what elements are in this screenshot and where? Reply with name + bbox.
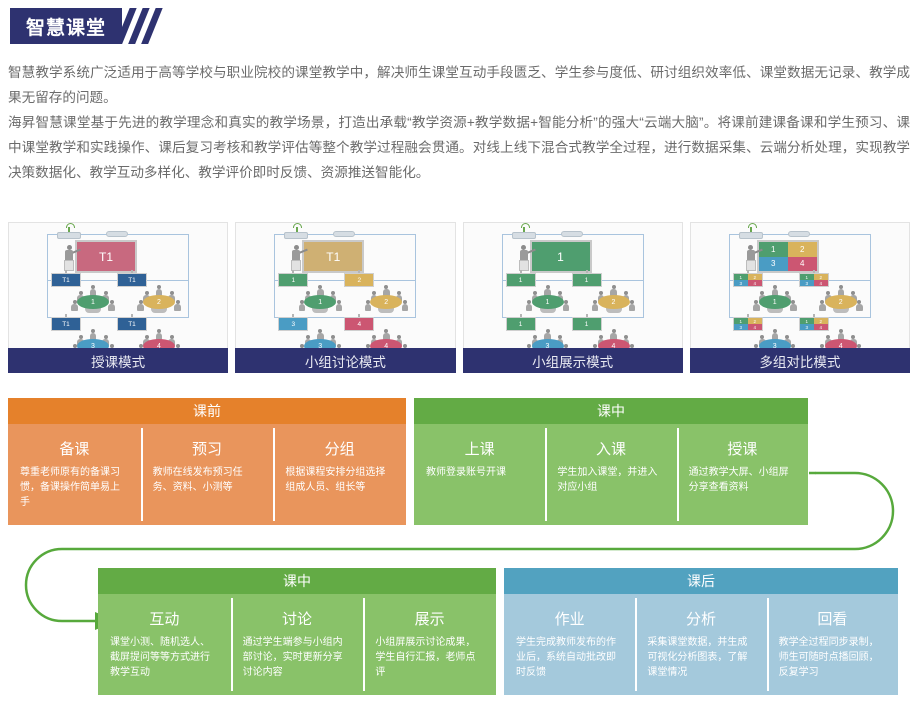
group-table: 3 [292,327,348,348]
process-step-name: 互动 [110,608,219,629]
mode-card-label: 授课模式 [8,348,228,373]
process-step[interactable]: 授课通过教学大屏、小组屏分享查看资料 [677,424,808,525]
process-step[interactable]: 讨论通过学生端参与小组内部讨论，实时更新分享讨论内容 [231,594,364,695]
table-top: 3 [77,339,109,348]
process-step[interactable]: 上课教师登录账号开课 [414,424,545,525]
process-columns: 备课尊重老师原有的备课习惯，备课操作简单易上手预习教师在线发布预习任务、资料、小… [8,424,406,525]
group-table: 2 [586,283,642,317]
table-top: 4 [825,339,857,348]
process-step-name: 作业 [516,608,623,629]
process-step-desc: 课堂小测、随机选人、截屏提问等等方式进行教学互动 [110,635,219,680]
process-step[interactable]: 预习教师在线发布预习任务、资料、小测等 [141,424,274,525]
process-block-title: 课中 [414,398,808,424]
table-top: 4 [143,339,175,348]
table-top: 1 [532,295,564,309]
process-block: 课后作业学生完成教师发布的作业后，系统自动批改即时反馈分析采集课堂数据，并生成可… [504,568,898,695]
process-step-desc: 学生加入课堂，并进入对应小组 [557,465,664,495]
classroom-diagram: 123412341234123412341234 [690,222,910,348]
student-figure-icon [563,344,570,348]
page-title: 智慧课堂 [10,8,122,44]
process-block: 课前备课尊重老师原有的备课习惯，备课操作简单易上手预习教师在线发布预习任务、资料… [8,398,406,525]
group-table: 1 [747,283,803,317]
table-top: 4 [370,339,402,348]
table-top: 1 [759,295,791,309]
group-table: 4 [586,327,642,348]
wifi-icon [64,223,75,232]
intro-text: 智慧教学系统广泛适用于高等学校与职业院校的课堂教学中，解决师生课堂互动手段匮乏、… [8,60,910,185]
projector-icon [57,232,81,239]
table-top: 1 [77,295,109,309]
student-figure-icon [108,300,115,313]
process-step-desc: 通过学生端参与小组内部讨论，实时更新分享讨论内容 [243,635,352,680]
process-step[interactable]: 回看教学全过程同步录制，师生可随时点播回顾，反复学习 [767,594,898,695]
student-figure-icon [108,344,115,348]
student-figure-icon [629,300,636,313]
student-figure-icon [563,300,570,313]
process-step-desc: 通过教学大屏、小组屏分享查看资料 [689,465,796,495]
table-top: 3 [304,339,336,348]
process-step-name: 授课 [689,438,796,459]
classroom-diagram: T112341234 [235,222,455,348]
student-figure-icon [335,300,342,313]
group-table: 2 [131,283,187,317]
process-step-name: 讨论 [243,608,352,629]
group-screen-quad-cell: 3 [734,324,748,330]
process-step-name: 分析 [647,608,754,629]
table-top: 2 [598,295,630,309]
main-screen-quad-cell: 1 [759,242,788,257]
student-figure-icon [401,300,408,313]
process-step-desc: 教师登录账号开课 [426,465,533,480]
process-step-desc: 教师在线发布预习任务、资料、小测等 [153,465,262,495]
process-columns: 互动课堂小测、随机选人、截屏提问等等方式进行教学互动讨论通过学生端参与小组内部讨… [98,594,496,695]
mode-card[interactable]: T112341234小组讨论模式 [235,222,455,373]
process-block: 课中互动课堂小测、随机选人、截屏提问等等方式进行教学互动讨论通过学生端参与小组内… [98,568,496,695]
group-table: 2 [358,283,414,317]
process-columns: 作业学生完成教师发布的作业后，系统自动批改即时反馈分析采集课堂数据，并生成可视化… [504,594,898,695]
teacher-figure-icon [745,245,757,271]
group-table: 1 [292,283,348,317]
wifi-icon [746,223,757,232]
student-figure-icon [790,300,797,313]
process-block: 课中上课教师登录账号开课入课学生加入课堂，并进入对应小组授课通过教学大屏、小组屏… [414,398,808,525]
classroom-diagram: 111111234 [463,222,683,348]
process-step[interactable]: 作业学生完成教师发布的作业后，系统自动批改即时反馈 [504,594,635,695]
intro-paragraph-2: 海昇智慧课堂基于先进的教学理念和真实的教学场景，打造出承载“教学资源+教学数据+… [8,110,910,185]
table-top: 4 [598,339,630,348]
camera-icon [333,231,355,237]
group-screen-quad-cell: 3 [734,280,748,286]
mode-card-label: 小组讨论模式 [235,348,455,373]
intro-paragraph-1: 智慧教学系统广泛适用于高等学校与职业院校的课堂教学中，解决师生课堂互动手段匮乏、… [8,60,910,110]
process-row-before-during: 课前备课尊重老师原有的备课习惯，备课操作简单易上手预习教师在线发布预习任务、资料… [8,398,910,526]
group-table: 3 [747,327,803,348]
student-figure-icon [401,344,408,348]
process-step-name: 分组 [285,438,394,459]
process-step[interactable]: 入课学生加入课堂，并进入对应小组 [545,424,676,525]
process-step-name: 上课 [426,438,533,459]
mode-card-label: 小组展示模式 [463,348,683,373]
main-screen: 1 [530,240,592,273]
group-table: 4 [131,327,187,348]
page-title-banner: 智慧课堂 [10,8,168,44]
wifi-icon [519,223,530,232]
student-figure-icon [174,344,181,348]
process-step-desc: 采集课堂数据，并生成可视化分析图表，了解课堂情况 [647,635,754,680]
projector-icon [284,232,308,239]
table-top: 2 [825,295,857,309]
projector-icon [512,232,536,239]
main-screen-quad-cell: 2 [788,242,817,257]
process-step[interactable]: 备课尊重老师原有的备课习惯，备课操作简单易上手 [8,424,141,525]
main-screen: T1 [75,240,137,273]
group-table: 4 [358,327,414,348]
student-figure-icon [790,344,797,348]
process-step[interactable]: 分组根据课程安排分组选择组成人员、组长等 [273,424,406,525]
process-block-title: 课前 [8,398,406,424]
camera-icon [106,231,128,237]
camera-icon [788,231,810,237]
main-screen-quad-cell: 4 [788,257,817,272]
process-step-name: 备课 [20,438,129,459]
teacher-figure-icon [518,245,530,271]
process-step-name: 回看 [779,608,886,629]
student-figure-icon [856,300,863,313]
student-figure-icon [856,344,863,348]
process-step-desc: 教学全过程同步录制，师生可随时点播回顾，反复学习 [779,635,886,680]
process-step-name: 入课 [557,438,664,459]
group-table: 3 [520,327,576,348]
table-top: 1 [304,295,336,309]
group-table: 2 [813,283,869,317]
process-step[interactable]: 互动课堂小测、随机选人、截屏提问等等方式进行教学互动 [98,594,231,695]
process-step-name: 预习 [153,438,262,459]
process-columns: 上课教师登录账号开课入课学生加入课堂，并进入对应小组授课通过教学大屏、小组屏分享… [414,424,808,525]
process-step-name: 展示 [375,608,484,629]
wifi-icon [291,223,302,232]
camera-icon [561,231,583,237]
student-figure-icon [629,344,636,348]
table-top: 2 [143,295,175,309]
table-top: 3 [759,339,791,348]
projector-icon [739,232,763,239]
group-table: 4 [813,327,869,348]
process-step-desc: 学生完成教师发布的作业后，系统自动批改即时反馈 [516,635,623,680]
mode-cards-row: T1T1T1T1T11234授课模式T112341234小组讨论模式111111… [8,222,910,373]
process-step-desc: 根据课程安排分组选择组成人员、组长等 [285,465,394,495]
mode-card[interactable]: T1T1T1T1T11234授课模式 [8,222,228,373]
mode-card[interactable]: 111111234小组展示模式 [463,222,683,373]
main-screen: T1 [302,240,364,273]
process-step-desc: 小组屏展示讨论成果，学生自行汇报，老师点评 [375,635,484,680]
main-screen: 1234 [757,240,819,273]
teacher-figure-icon [63,245,75,271]
process-block-title: 课中 [98,568,496,594]
student-figure-icon [335,344,342,348]
table-top: 2 [370,295,402,309]
student-figure-icon [174,300,181,313]
process-step[interactable]: 分析采集课堂数据，并生成可视化分析图表，了解课堂情况 [635,594,766,695]
group-table: 1 [520,283,576,317]
process-row-during-after: 课中互动课堂小测、随机选人、截屏提问等等方式进行教学互动讨论通过学生端参与小组内… [98,568,915,696]
mode-card[interactable]: 123412341234123412341234多组对比模式 [690,222,910,373]
process-step-desc: 尊重老师原有的备课习惯，备课操作简单易上手 [20,465,129,510]
table-top: 3 [532,339,564,348]
process-step[interactable]: 展示小组屏展示讨论成果，学生自行汇报，老师点评 [363,594,496,695]
teacher-figure-icon [290,245,302,271]
main-screen-quad-cell: 3 [759,257,788,272]
mode-card-label: 多组对比模式 [690,348,910,373]
group-table: 1 [65,283,121,317]
decorative-slashes-icon [122,8,168,44]
process-block-title: 课后 [504,568,898,594]
group-table: 3 [65,327,121,348]
classroom-diagram: T1T1T1T1T11234 [8,222,228,348]
